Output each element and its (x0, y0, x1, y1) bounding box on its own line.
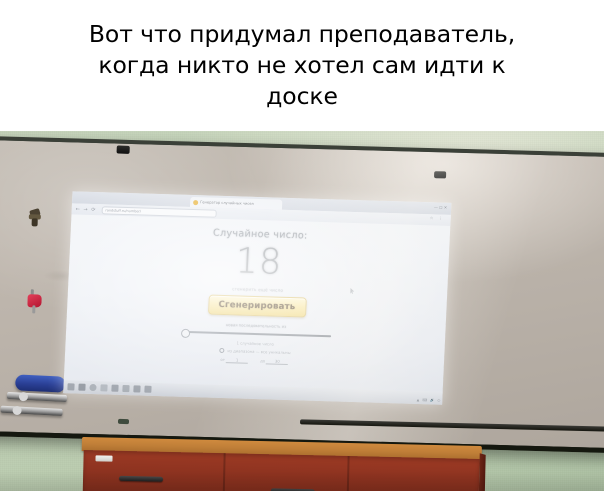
cabinet-door-seam (347, 456, 350, 491)
classroom-photo: Генератор случайных чисел — ◻ ✕ ← → ⟳ ra… (0, 131, 604, 491)
range-from-label: от (220, 357, 225, 362)
chrome-icon[interactable] (144, 386, 151, 393)
cortana-icon[interactable] (89, 384, 96, 391)
random-number-label: Случайное число: (213, 228, 308, 242)
cabinet-label-sticker (95, 455, 112, 461)
system-tray[interactable]: ▲ ⌨ 🔊 ⏻ (417, 398, 442, 403)
red-clip-magnet-icon (27, 289, 42, 313)
generate-button[interactable]: Сгенерировать (207, 295, 306, 318)
unique-option-label: из диапазона — все уникальны (227, 348, 290, 355)
count-slider[interactable] (181, 329, 331, 340)
cabinet-door-seam (223, 453, 226, 491)
sequence-note: новая последовательность из (226, 322, 286, 329)
count-label: 1 случайное число (236, 340, 274, 346)
wooden-cabinet (81, 437, 482, 491)
range-to: до 30 (260, 359, 288, 366)
top-edge-magnet-icon (117, 145, 130, 154)
edge-icon[interactable] (111, 385, 118, 392)
range-inputs[interactable]: от 1 до 30 (220, 357, 288, 365)
store-icon[interactable] (133, 385, 140, 392)
projected-screen: Генератор случайных чисел — ◻ ✕ ← → ⟳ ra… (63, 191, 451, 404)
regenerate-hint: сгенерить ещё число (232, 286, 283, 293)
explorer-icon[interactable] (100, 384, 107, 391)
search-icon[interactable] (78, 384, 85, 391)
window-controls[interactable]: — ◻ ✕ (434, 204, 447, 209)
slider-knob[interactable] (180, 329, 189, 338)
random-number-value: 18 (235, 242, 283, 281)
webpage-content: Случайное число: 18 сгенерить ещё число … (64, 214, 451, 391)
start-icon[interactable] (67, 383, 74, 390)
wall-bracket (118, 419, 129, 424)
blue-marker-icon (15, 374, 66, 392)
browser-tab-title: Генератор случайных чисел (200, 200, 254, 206)
caption-text: Вот что придумал преподаватель, когда ни… (12, 19, 592, 112)
favicon-icon (193, 200, 198, 205)
radio-icon[interactable] (219, 348, 225, 354)
range-from-input[interactable]: 1 (226, 358, 248, 365)
mail-icon[interactable] (122, 385, 129, 392)
slider-track (187, 331, 331, 337)
nav-buttons-icon[interactable]: ← → ⟳ (76, 206, 97, 213)
whiteboard: Генератор случайных чисел — ◻ ✕ ← → ⟳ ra… (0, 136, 604, 453)
cabinet-handle[interactable] (119, 476, 163, 482)
window-buttons-glyphs: — ◻ ✕ (434, 204, 447, 209)
cabinet-side-panel (479, 453, 486, 491)
dark-clip-magnet-icon (28, 209, 43, 227)
browser-menu-icons[interactable]: ☆ ⋮ (430, 215, 445, 220)
top-edge-magnet-icon (434, 171, 446, 178)
caption-banner: Вот что придумал преподаватель, когда ни… (0, 0, 604, 131)
range-to-label: до (260, 359, 265, 364)
range-to-input[interactable]: 30 (266, 359, 288, 366)
unique-option[interactable]: из диапазона — все уникальны (219, 348, 291, 356)
range-from: от 1 (220, 357, 248, 364)
